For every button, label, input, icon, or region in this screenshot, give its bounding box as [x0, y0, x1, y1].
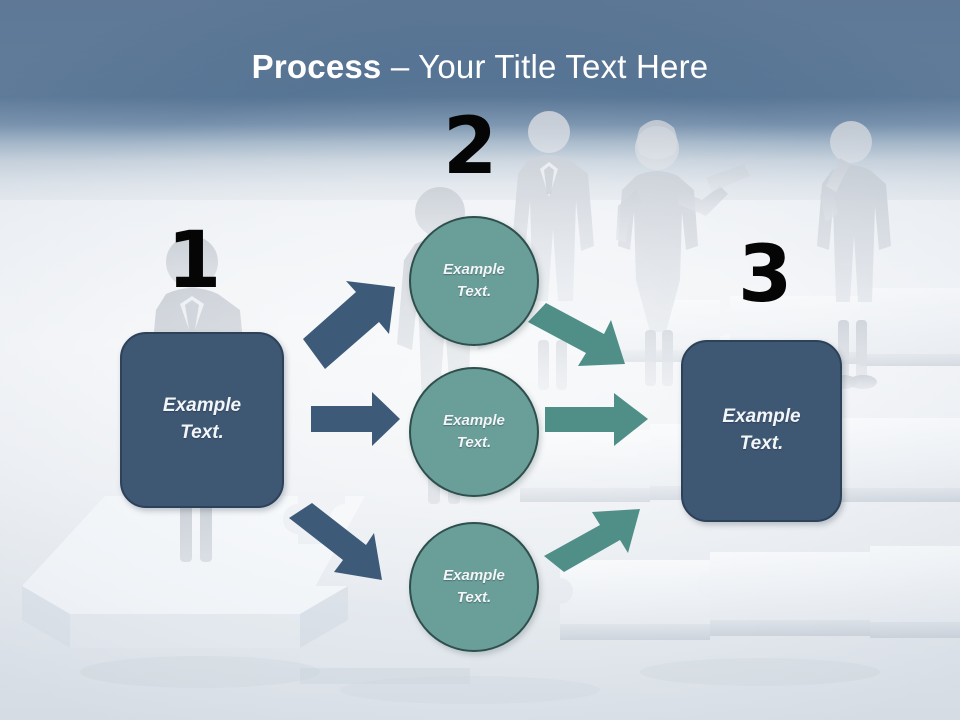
branch-circle-bottom-text: Example Text.	[443, 565, 505, 609]
arrow-circle-top-to-box3	[528, 303, 625, 366]
arrow-box1-to-circle-top	[303, 281, 395, 369]
branch-circle-top-line2: Text.	[457, 283, 491, 300]
slide-canvas: Process – Your Title Text Here 1 2 3	[0, 0, 960, 720]
branch-circle-middle-line1: Example	[443, 412, 505, 429]
step-number-1: 1	[167, 222, 221, 300]
branch-circle-bottom-line2: Text.	[457, 589, 491, 606]
branch-circle-middle[interactable]: Example Text.	[409, 367, 539, 497]
branch-circle-bottom-line1: Example	[443, 567, 505, 584]
step-number-2: 2	[443, 108, 497, 186]
branch-circle-top-line1: Example	[443, 261, 505, 278]
stage-box-3-line2: Text.	[740, 433, 784, 454]
stage-box-3-line1: Example	[722, 406, 800, 427]
stage-box-1-line2: Text.	[180, 422, 224, 443]
stage-box-1-text: Example Text.	[163, 393, 241, 447]
branch-circle-middle-line2: Text.	[457, 434, 491, 451]
arrow-box1-to-circle-bottom	[289, 503, 382, 580]
arrow-box1-to-circle-middle	[311, 392, 400, 446]
branch-circle-top[interactable]: Example Text.	[409, 216, 539, 346]
branch-circle-top-text: Example Text.	[443, 259, 505, 303]
stage-box-1-line1: Example	[163, 395, 241, 416]
branch-circle-middle-text: Example Text.	[443, 410, 505, 454]
stage-box-3[interactable]: Example Text.	[681, 340, 842, 522]
step-number-3: 3	[738, 236, 792, 314]
arrow-circle-middle-to-box3	[545, 393, 648, 446]
branch-circle-bottom[interactable]: Example Text.	[409, 522, 539, 652]
stage-box-3-text: Example Text.	[722, 404, 800, 458]
stage-box-1[interactable]: Example Text.	[120, 332, 284, 508]
arrow-circle-bottom-to-box3	[544, 509, 640, 572]
